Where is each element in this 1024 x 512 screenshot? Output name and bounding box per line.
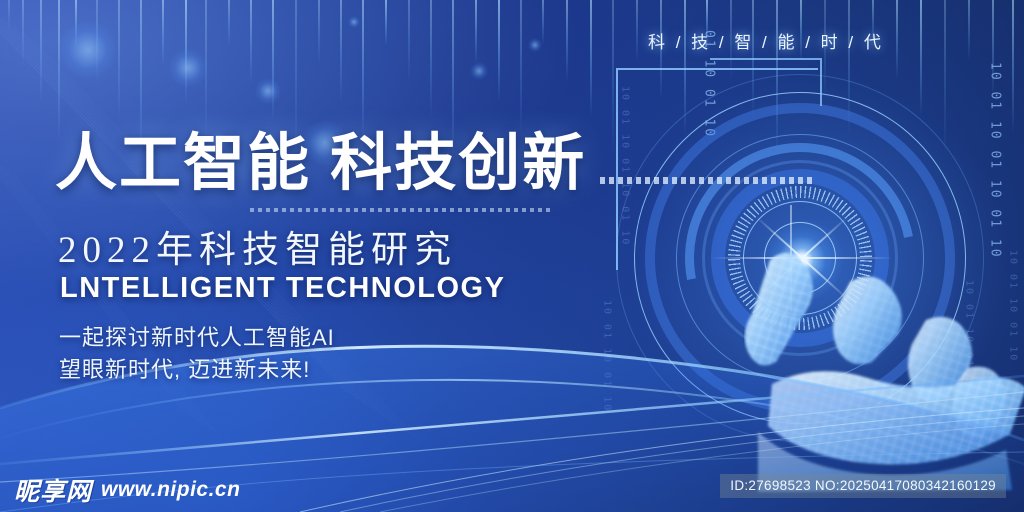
light-streak	[162, 0, 164, 66]
light-streak	[340, 0, 342, 102]
light-streak	[185, 0, 187, 103]
bokeh-dot	[528, 38, 542, 52]
dashed-divider-secondary	[250, 208, 550, 212]
banner-canvas: 01 10 01 10 10 01 10 01 10 01 10 10 01 1…	[0, 0, 1024, 512]
light-streak	[475, 0, 477, 64]
id-text: ID:27698523 NO:20250417080342160129	[730, 478, 996, 493]
header-tagline: 科 / 技 / 智 / 能 / 时 / 代	[648, 28, 884, 53]
bokeh-dot	[168, 48, 208, 88]
light-streak	[96, 0, 98, 85]
light-streak	[318, 0, 320, 65]
light-streak	[118, 0, 120, 122]
watermark-url: www.nipic.cn	[101, 478, 240, 502]
page-title: 人工智能 科技创新	[55, 112, 586, 202]
light-streak	[228, 0, 230, 47]
watermark-logo: 昵享网	[14, 472, 92, 508]
dashed-divider	[600, 177, 815, 184]
light-streak	[272, 0, 274, 121]
light-streak	[8, 0, 10, 30]
body-line-1: 一起探讨新时代人工智能AI	[59, 320, 335, 352]
subtitle-chinese: 2022年科技智能研究	[58, 219, 457, 273]
bokeh-dot	[470, 62, 488, 80]
id-badge: ID:27698523 NO:20250417080342160129	[720, 474, 1006, 498]
light-streak	[498, 0, 500, 101]
watermark: 昵享网 www.nipic.cn	[14, 472, 240, 508]
body-line-2: 望眼新时代, 迈进新未来!	[59, 352, 310, 384]
light-streak	[22, 0, 24, 67]
light-streak	[75, 0, 77, 48]
light-streak	[40, 0, 42, 104]
light-streak	[385, 0, 387, 46]
light-streak	[542, 0, 544, 45]
light-streak	[250, 0, 252, 84]
bokeh-dot	[58, 20, 118, 80]
light-streak	[430, 0, 432, 120]
light-streak	[408, 0, 410, 83]
bokeh-dot	[255, 78, 281, 104]
bokeh-dot	[348, 16, 360, 28]
subtitle-english: LNTELLIGENT TECHNOLOGY	[60, 272, 505, 305]
